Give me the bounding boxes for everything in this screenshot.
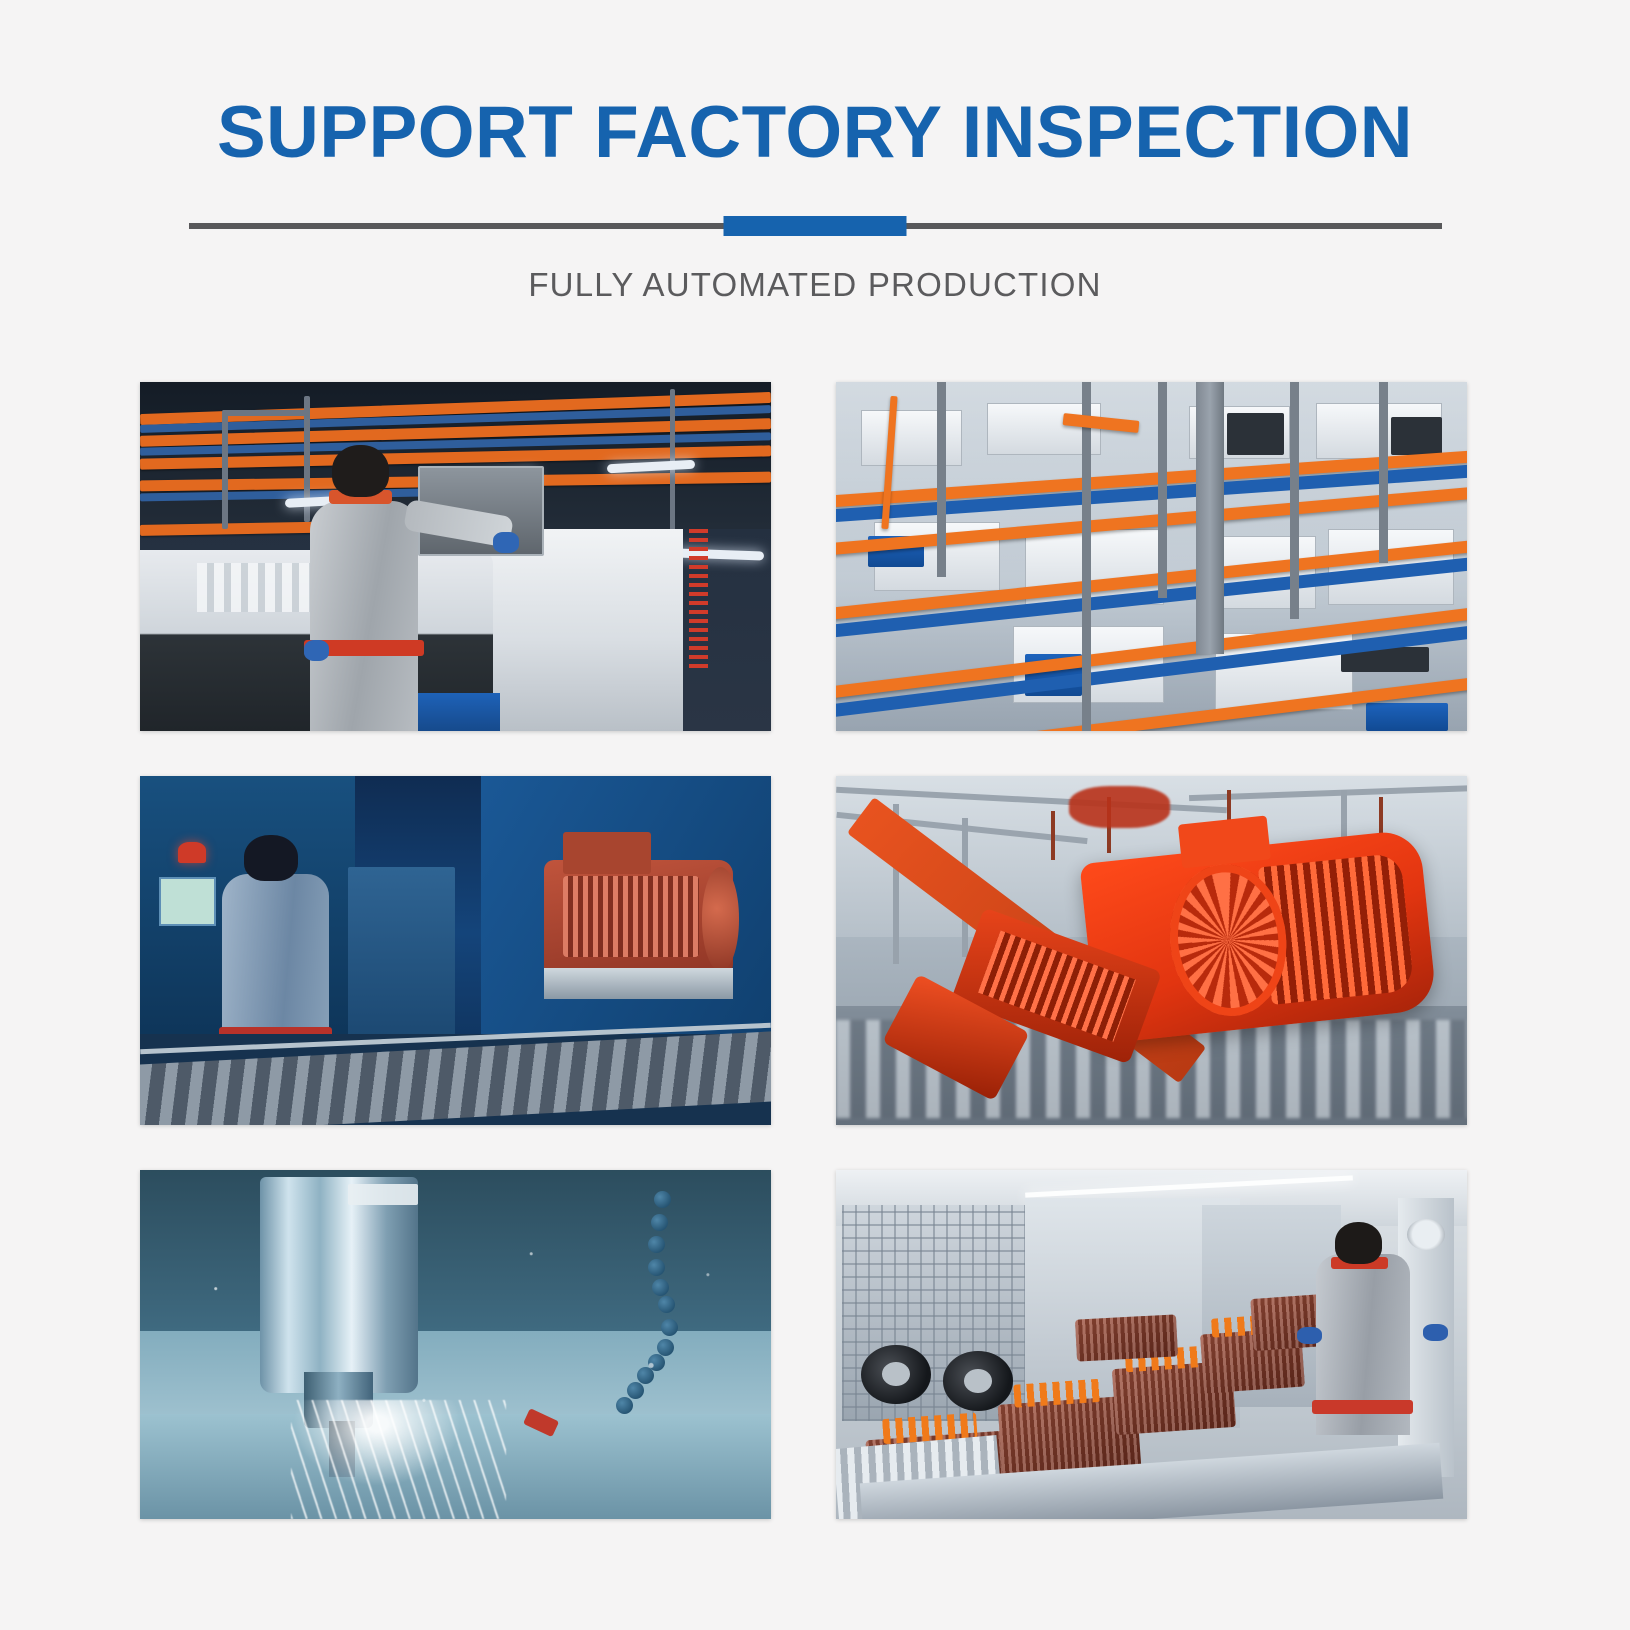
- gallery-photo-stator-assembly-line: Assembly line of motor stator housings w…: [836, 1170, 1467, 1519]
- worker-belt: [1312, 1400, 1413, 1414]
- title-divider: [189, 213, 1442, 237]
- motor-stator-housing: [1075, 1314, 1178, 1361]
- photo-scene-blue-conveyor: [140, 776, 771, 1125]
- photo-scene-assembly-line: [836, 1170, 1467, 1519]
- steel-column: [1082, 382, 1091, 731]
- worker-head: [1335, 1222, 1382, 1264]
- control-screen: [159, 877, 216, 926]
- worker-glove: [1423, 1324, 1448, 1341]
- photo-scene-cnc-lathe: [140, 382, 771, 731]
- page-header: SUPPORT FACTORY INSPECTION FULLY AUTOMAT…: [0, 0, 1630, 304]
- worker-torso: [310, 501, 417, 731]
- wire-coil: [943, 1351, 1012, 1410]
- support-beam: [222, 410, 310, 416]
- photo-scene-production-hall: [836, 382, 1467, 731]
- photo-scene-cnc-milling: [140, 1170, 771, 1519]
- machine-cabinet: [348, 867, 455, 1055]
- worker-head: [244, 835, 298, 880]
- page-subtitle: FULLY AUTOMATED PRODUCTION: [0, 266, 1630, 304]
- gallery-photo-cnc-lathe-operator: Worker operating CNC lathe beneath orang…: [140, 382, 771, 731]
- conveyor-hook: [1051, 811, 1055, 860]
- photo-gallery: Worker operating CNC lathe beneath orang…: [140, 382, 1467, 1519]
- metal-chips: [140, 1170, 771, 1519]
- machine-dark-panel: [1227, 413, 1284, 455]
- steel-column: [1379, 382, 1388, 563]
- steel-column: [937, 382, 946, 577]
- wire-coil: [861, 1345, 930, 1404]
- motor-terminal-box: [563, 832, 651, 874]
- gallery-photo-production-hall-overview: Elevated view of automated production ha…: [836, 382, 1467, 731]
- pressure-gauge: [1407, 1219, 1445, 1250]
- steel-column: [1158, 382, 1167, 598]
- motor-cooling-fins: [563, 876, 699, 957]
- blue-parts-bin: [1366, 703, 1448, 731]
- motor-terminal-box: [1178, 815, 1271, 868]
- support-rod: [222, 410, 228, 529]
- divider-accent-segment: [724, 216, 907, 236]
- page-title: SUPPORT FACTORY INSPECTION: [0, 96, 1630, 169]
- red-coil-hose: [689, 529, 708, 669]
- gallery-photo-motor-on-conveyor: Operator at control station with red ele…: [140, 776, 771, 1125]
- gallery-photo-cnc-milling-coolant: CNC milling spindle cutting with coolant…: [140, 1170, 771, 1519]
- motor-support-pallet: [544, 968, 733, 999]
- signal-lamp: [178, 842, 206, 863]
- worker-head: [332, 445, 389, 497]
- steel-column: [1290, 382, 1299, 619]
- distant-red-motor: [1069, 786, 1170, 828]
- gallery-photo-paint-line-motors: Red painted electric motors suspended on…: [836, 776, 1467, 1125]
- structural-pillar: [1196, 382, 1224, 654]
- worker-glove: [493, 532, 518, 553]
- machine-dark-panel: [1391, 417, 1441, 455]
- stator-laminations: [1075, 1314, 1178, 1361]
- machine-grill: [197, 563, 323, 612]
- machine-unit: [861, 410, 962, 466]
- photo-scene-paint-line: [836, 776, 1467, 1125]
- worker-glove: [1297, 1327, 1322, 1344]
- worker-glove: [304, 640, 329, 661]
